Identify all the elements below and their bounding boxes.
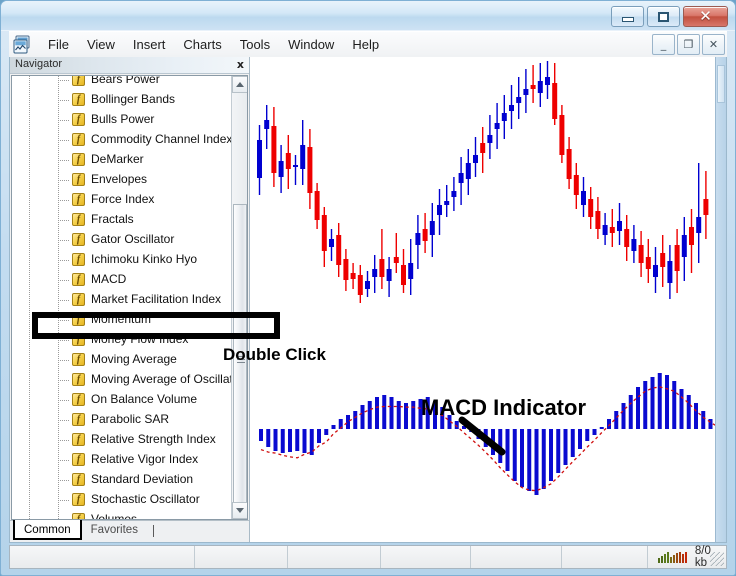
scrollbar-grip-icon — [237, 356, 245, 364]
tree-item-money-flow-index[interactable]: fMoney Flow Index — [12, 330, 231, 350]
tree-item-relative-vigor-index[interactable]: fRelative Vigor Index — [12, 450, 231, 470]
tree-guide-line — [29, 75, 30, 90]
tree-item-standard-deviation[interactable]: fStandard Deviation — [12, 470, 231, 490]
tree-item-commodity-channel-index[interactable]: fCommodity Channel Index — [12, 130, 231, 150]
window-close-button[interactable]: ✕ — [683, 6, 728, 27]
metatrader-window: ✕ File View Insert Charts Tools Window H… — [0, 0, 736, 576]
tree-branch-line — [58, 140, 70, 141]
tree-item-label: Relative Strength Index — [91, 432, 216, 446]
indicator-function-icon: f — [72, 333, 85, 346]
tree-item-label: Standard Deviation — [91, 472, 193, 486]
indicator-function-icon: f — [72, 453, 85, 466]
tree-item-macd[interactable]: fMACD — [12, 270, 231, 290]
metatrader-icon — [13, 35, 33, 54]
tree-item-fractals[interactable]: fFractals — [12, 210, 231, 230]
indicator-function-icon: f — [72, 153, 85, 166]
tab-favorites[interactable]: Favorites — [82, 521, 147, 538]
tree-guide-line — [29, 370, 30, 390]
tree-guide-line — [29, 450, 30, 470]
signal-bar — [661, 556, 663, 563]
status-cell-5 — [471, 546, 562, 568]
tree-guide-line — [29, 190, 30, 210]
tree-item-ichimoku-kinko-hyo[interactable]: fIchimoku Kinko Hyo — [12, 250, 231, 270]
tree-item-label: Market Facilitation Index — [91, 292, 221, 306]
tree-branch-line — [58, 160, 70, 161]
tree-guide-line — [58, 75, 59, 90]
tree-guide-line — [29, 330, 30, 350]
tree-item-moving-average-of-oscillator[interactable]: fMoving Average of Oscillator — [12, 370, 231, 390]
tree-item-label: Fractals — [91, 212, 134, 226]
tree-item-label: Moving Average — [91, 352, 177, 366]
chart-canvas — [251, 57, 726, 542]
tree-branch-line — [58, 260, 70, 261]
tree-branch-line — [58, 280, 70, 281]
window-maximize-button[interactable] — [647, 6, 680, 27]
tree-branch-line — [58, 120, 70, 121]
tree-branch-line — [58, 80, 70, 81]
status-cell-3 — [288, 546, 380, 568]
tree-guide-line — [29, 250, 30, 270]
indicator-function-icon: f — [72, 433, 85, 446]
tree-branch-line — [58, 320, 70, 321]
signal-bar — [658, 558, 660, 563]
indicator-function-icon: f — [72, 173, 85, 186]
indicator-function-icon: f — [72, 133, 85, 146]
tree-item-volumes[interactable]: fVolumes — [12, 510, 231, 520]
indicator-function-icon: f — [72, 273, 85, 286]
tree-guide-line — [58, 510, 59, 520]
tree-item-label: Stochastic Oscillator — [91, 492, 200, 506]
indicator-function-icon: f — [72, 233, 85, 246]
tree-item-label: Ichimoku Kinko Hyo — [91, 252, 197, 266]
tree-item-label: Volumes — [91, 512, 137, 520]
tree-branch-line — [58, 300, 70, 301]
menu-tools[interactable]: Tools — [231, 34, 279, 55]
indicator-tree: fBears PowerfBollinger BandsfBulls Power… — [12, 75, 231, 520]
tree-item-bollinger-bands[interactable]: fBollinger Bands — [12, 90, 231, 110]
tree-guide-line — [29, 430, 30, 450]
tree-item-market-facilitation-index[interactable]: fMarket Facilitation Index — [12, 290, 231, 310]
tree-guide-line — [29, 490, 30, 510]
tree-item-label: Relative Vigor Index — [91, 452, 198, 466]
status-cell-4 — [381, 546, 471, 568]
tree-guide-line — [29, 270, 30, 290]
tree-branch-line — [58, 460, 70, 461]
tree-item-bears-power[interactable]: fBears Power — [12, 75, 231, 90]
signal-bars-icon — [658, 552, 687, 563]
candlestick-series — [257, 61, 708, 303]
indicator-function-icon: f — [72, 473, 85, 486]
navigator-header: Navigator x — [10, 57, 249, 74]
tree-guide-line — [29, 290, 30, 310]
indicator-function-icon: f — [72, 313, 85, 326]
tree-branch-line — [58, 240, 70, 241]
tree-guide-line — [29, 230, 30, 250]
macd-histogram — [259, 373, 720, 495]
client-area: Navigator x fBears PowerfBollinger Bands… — [9, 57, 727, 543]
tree-guide-line — [29, 410, 30, 430]
indicator-function-icon: f — [72, 93, 85, 106]
menu-insert[interactable]: Insert — [124, 34, 175, 55]
indicator-function-icon: f — [72, 493, 85, 506]
minimize-icon — [622, 17, 634, 22]
tree-item-demarker[interactable]: fDeMarker — [12, 150, 231, 170]
chart-pane[interactable] — [251, 57, 726, 542]
tree-branch-line — [58, 220, 70, 221]
tree-guide-line — [29, 510, 30, 520]
tree-branch-line — [58, 500, 70, 501]
indicator-function-icon: f — [72, 393, 85, 406]
mdi-close-button[interactable]: ✕ — [702, 34, 725, 55]
tree-item-force-index[interactable]: fForce Index — [12, 190, 231, 210]
tree-item-label: Parabolic SAR — [91, 412, 169, 426]
tree-item-label: On Balance Volume — [91, 392, 197, 406]
navigator-scrollbar[interactable] — [231, 76, 247, 519]
scroll-up-button[interactable] — [232, 76, 248, 93]
tab-common[interactable]: Common — [13, 520, 82, 540]
tree-guide-line — [29, 350, 30, 370]
tree-branch-line — [58, 420, 70, 421]
mdi-window-controls: _ ❐ ✕ — [652, 34, 725, 55]
tree-item-label: Bulls Power — [91, 112, 154, 126]
tree-guide-line — [29, 90, 30, 110]
resize-grip-icon[interactable] — [710, 552, 724, 566]
signal-bar — [664, 554, 666, 563]
tree-item-label: Commodity Channel Index — [91, 132, 232, 146]
maximize-icon — [658, 12, 669, 22]
close-icon: ✕ — [699, 9, 712, 24]
chart-scrollbar[interactable] — [715, 57, 726, 542]
chart-scrollbar-thumb[interactable] — [717, 65, 725, 103]
navigator-title: Navigator — [15, 58, 62, 70]
tree-branch-line — [58, 360, 70, 361]
tree-item-label: Bollinger Bands — [91, 92, 175, 106]
tree-item-label: Moving Average of Oscillator — [91, 372, 244, 386]
window-controls: ✕ — [611, 6, 728, 27]
tree-branch-line — [58, 480, 70, 481]
status-bar: 8/0 kb — [9, 545, 727, 569]
tree-item-relative-strength-index[interactable]: fRelative Strength Index — [12, 430, 231, 450]
scroll-down-button[interactable] — [232, 502, 248, 519]
tree-guide-line — [29, 310, 30, 330]
tree-guide-line — [29, 110, 30, 130]
tree-guide-line — [29, 390, 30, 410]
indicator-function-icon: f — [72, 75, 85, 86]
signal-bar — [685, 552, 687, 563]
signal-bar — [667, 552, 669, 563]
signal-bar — [679, 552, 681, 563]
scrollbar-thumb[interactable] — [233, 204, 247, 516]
window-titlebar: ✕ — [1, 1, 735, 31]
indicator-function-icon: f — [72, 213, 85, 226]
tree-branch-line — [58, 340, 70, 341]
tree-guide-line — [29, 170, 30, 190]
indicator-function-icon: f — [72, 293, 85, 306]
tree-item-label: Money Flow Index — [91, 332, 188, 346]
tree-item-label: DeMarker — [91, 152, 144, 166]
menu-bar: File View Insert Charts Tools Window Hel… — [9, 31, 727, 57]
tree-branch-line — [58, 200, 70, 201]
tree-item-on-balance-volume[interactable]: fOn Balance Volume — [12, 390, 231, 410]
signal-bar — [673, 555, 675, 563]
mdi-minimize-button[interactable]: _ — [652, 34, 675, 55]
status-cell-6 — [562, 546, 647, 568]
tree-guide-line — [29, 130, 30, 150]
mdi-restore-button[interactable]: ❐ — [677, 34, 700, 55]
status-cell-1 — [10, 546, 195, 568]
indicator-function-icon: f — [72, 113, 85, 126]
tree-item-label: MACD — [91, 272, 126, 286]
tree-guide-line — [29, 150, 30, 170]
navigator-close-icon[interactable]: x — [237, 58, 244, 72]
navigator-panel: Navigator x fBears PowerfBollinger Bands… — [10, 57, 250, 542]
tree-branch-line — [58, 440, 70, 441]
menu-view[interactable]: View — [78, 34, 124, 55]
tree-item-parabolic-sar[interactable]: fParabolic SAR — [12, 410, 231, 430]
tree-item-label: Envelopes — [91, 172, 147, 186]
tree-item-label: Gator Oscillator — [91, 232, 174, 246]
window-minimize-button[interactable] — [611, 6, 644, 27]
menu-charts[interactable]: Charts — [174, 34, 230, 55]
tree-item-gator-oscillator[interactable]: fGator Oscillator — [12, 230, 231, 250]
tab-caret — [153, 525, 154, 537]
menu-items: File View Insert Charts Tools Window Hel… — [39, 34, 388, 55]
status-cell-2 — [195, 546, 288, 568]
indicator-function-icon: f — [72, 413, 85, 426]
tree-branch-line — [58, 380, 70, 381]
macd-signal-line — [261, 387, 718, 491]
tree-item-momentum[interactable]: fMomentum — [12, 310, 231, 330]
tree-item-label: Force Index — [91, 192, 154, 206]
indicator-function-icon: f — [72, 253, 85, 266]
indicator-function-icon: f — [72, 373, 85, 386]
indicator-function-icon: f — [72, 513, 85, 520]
tree-item-label: Bears Power — [91, 75, 160, 86]
tree-branch-line — [58, 400, 70, 401]
tree-guide-line — [29, 470, 30, 490]
indicator-function-icon: f — [72, 353, 85, 366]
tree-item-bulls-power[interactable]: fBulls Power — [12, 110, 231, 130]
signal-bar — [682, 554, 684, 563]
tree-item-envelopes[interactable]: fEnvelopes — [12, 170, 231, 190]
tree-item-stochastic-oscillator[interactable]: fStochastic Oscillator — [12, 490, 231, 510]
tree-branch-line — [58, 180, 70, 181]
indicator-function-icon: f — [72, 193, 85, 206]
menu-help[interactable]: Help — [343, 34, 388, 55]
signal-bar — [676, 553, 678, 563]
menu-file[interactable]: File — [39, 34, 78, 55]
signal-bar — [670, 557, 672, 563]
navigator-tree-container: fBears PowerfBollinger BandsfBulls Power… — [11, 75, 248, 520]
menu-window[interactable]: Window — [279, 34, 343, 55]
tree-guide-line — [29, 210, 30, 230]
tree-item-moving-average[interactable]: fMoving Average — [12, 350, 231, 370]
navigator-tabs: Common Favorites — [10, 520, 249, 542]
tree-item-label: Momentum — [91, 312, 151, 326]
tree-branch-line — [58, 100, 70, 101]
